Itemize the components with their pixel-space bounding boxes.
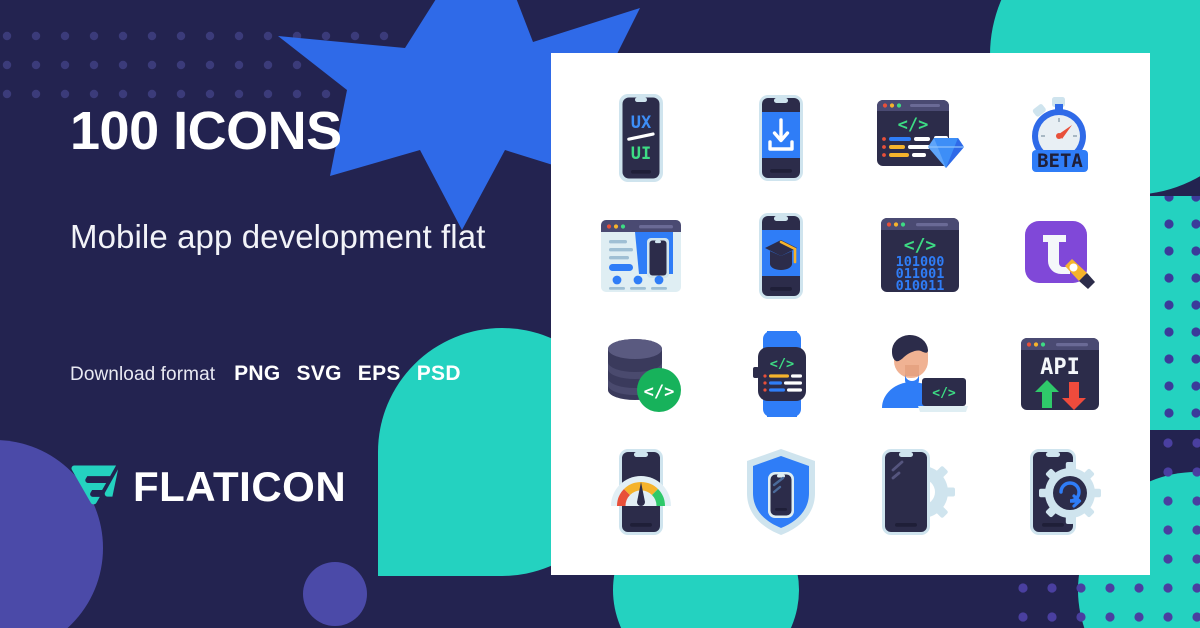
icon-database-code-icon: </> xyxy=(571,315,711,433)
icon-app-performance-gauge-phone-icon xyxy=(571,433,711,551)
icon-beta-stopwatch-icon: BETA xyxy=(990,79,1130,197)
format-svg: SVG xyxy=(297,362,342,386)
format-png: PNG xyxy=(234,362,280,386)
icon-api-transfer-window-icon: API xyxy=(990,315,1130,433)
svg-text:</>: </> xyxy=(769,356,793,372)
flaticon-logo-mark-icon xyxy=(70,463,120,510)
flaticon-logo-text: FLATICON xyxy=(133,466,346,508)
icon-app-download-phone-icon xyxy=(711,79,851,197)
page-subtitle: Mobile app development flat xyxy=(70,210,490,263)
svg-text:</>: </> xyxy=(898,115,929,135)
download-format-label: Download format xyxy=(70,364,215,386)
icon-smartwatch-code-icon: </> xyxy=(711,315,851,433)
format-psd: PSD xyxy=(417,362,461,386)
icon-code-window-diamond-icon: </> xyxy=(851,79,991,197)
icon-responsive-design-browser-icon xyxy=(571,197,711,315)
icon-binary-code-window-icon: </> 101000 011001 010011 xyxy=(851,197,991,315)
download-formats: Download format PNG SVG EPS PSD xyxy=(70,362,461,386)
svg-text:UX: UX xyxy=(631,113,652,133)
icon-app-learning-graduation-phone-icon xyxy=(711,197,851,315)
left-panel: 100 ICONS Mobile app development flat Do… xyxy=(0,0,551,628)
svg-text:</>: </> xyxy=(904,235,937,256)
icon-developer-laptop-icon: </> xyxy=(851,315,991,433)
icon-app-settings-gear-phone-icon xyxy=(851,433,991,551)
icon-app-design-pen-tool-icon xyxy=(990,197,1130,315)
svg-text:010011: 010011 xyxy=(896,278,945,294)
flaticon-logo: FLATICON xyxy=(70,463,346,510)
svg-text:</>: </> xyxy=(644,382,675,402)
format-list: PNG SVG EPS PSD xyxy=(234,362,461,386)
svg-text:BETA: BETA xyxy=(1037,150,1083,172)
icon-ux-ui-phone-icon: UX UI xyxy=(571,79,711,197)
svg-text:UI: UI xyxy=(631,144,651,164)
format-eps: EPS xyxy=(358,362,401,386)
svg-text:API: API xyxy=(1040,355,1080,380)
svg-text:</>: </> xyxy=(933,386,957,401)
icon-agile-development-phone-icon xyxy=(990,433,1130,551)
page-title: 100 ICONS xyxy=(70,104,342,158)
icon-preview-card: UX UI </> xyxy=(551,53,1150,575)
icon-app-security-shield-phone-icon xyxy=(711,433,851,551)
